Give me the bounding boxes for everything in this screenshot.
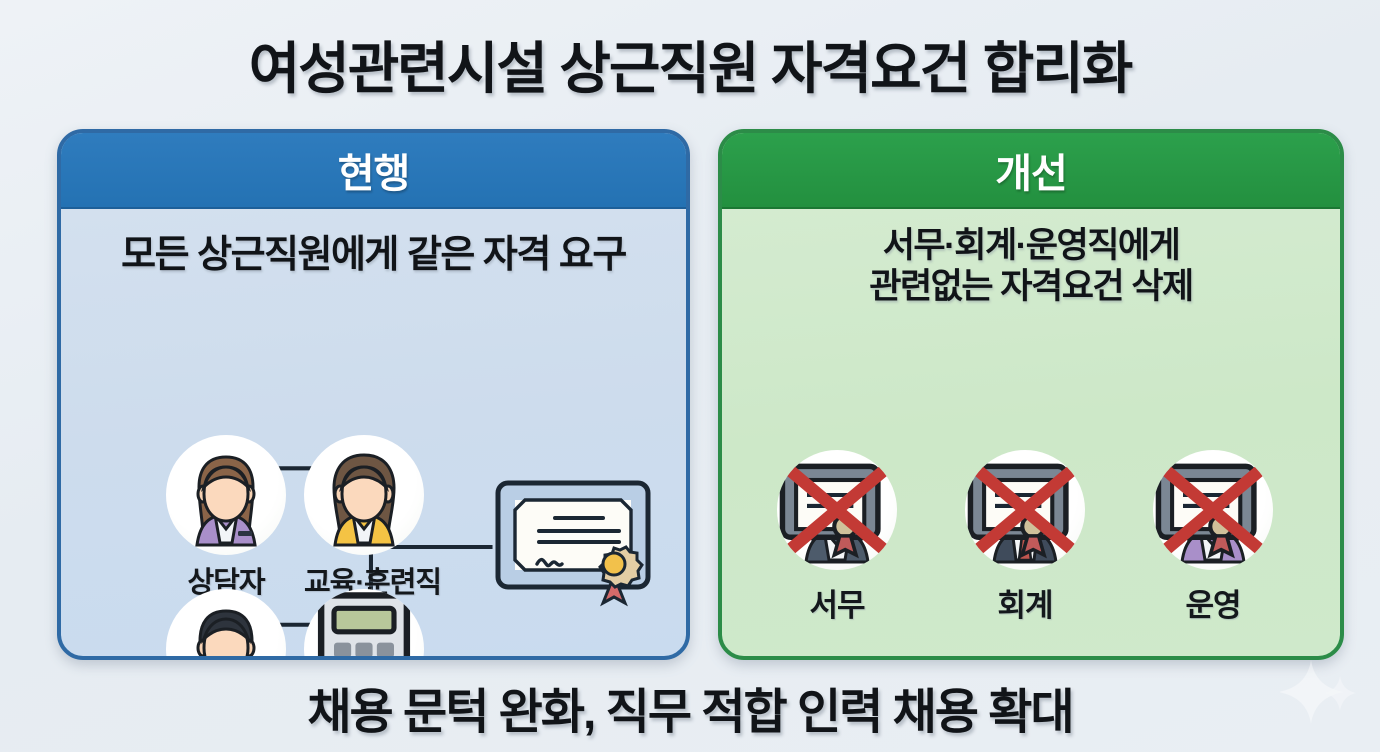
person-icon — [166, 435, 286, 555]
avatar — [166, 435, 286, 555]
certificate-icon — [493, 478, 661, 608]
figure-accounting: 회계 — [304, 589, 424, 660]
figure-counselor: 상담자 — [166, 435, 286, 601]
figure-label: 서무 — [777, 580, 897, 625]
panel-improved-body: 서무·회계·운영직에게 관련없는 자격요건 삭제 — [722, 207, 1340, 656]
figure-general-affairs: 서무 — [777, 450, 897, 625]
panel-improved-header: 개선 — [722, 133, 1340, 209]
person-icon — [304, 589, 424, 660]
person-icon — [304, 435, 424, 555]
infographic-canvas: 여성관련시설 상근직원 자격요건 합리화 현행 모든 상근직원에게 같은 자격 … — [0, 0, 1380, 752]
panel-current-body: 모든 상근직원에게 같은 자격 요구 — [61, 207, 686, 656]
figure-label: 운영 — [1153, 580, 1273, 625]
panel-current-header: 현행 — [61, 133, 686, 209]
certificate-crossed-out-icon — [1153, 450, 1273, 570]
figure-label: 회계 — [965, 580, 1085, 625]
subtitle-line-1: 서무·회계·운영직에게 — [883, 226, 1180, 265]
certificate-crossed-out-icon — [777, 450, 897, 570]
panel-improved: 개선 서무·회계·운영직에게 관련없는 자격요건 삭제 — [718, 129, 1344, 660]
sparkle-icon — [1280, 656, 1358, 728]
panel-current: 현행 모든 상근직원에게 같은 자격 요구 — [57, 129, 690, 660]
certificate-crossed-out-icon — [965, 450, 1085, 570]
person-icon — [166, 589, 286, 660]
avatar — [304, 589, 424, 660]
avatar — [1153, 450, 1273, 570]
bottom-caption: 채용 문턱 완화, 직무 적합 인력 채용 확대 — [0, 672, 1380, 742]
panel-improved-subtitle: 서무·회계·운영직에게 관련없는 자격요건 삭제 — [722, 225, 1340, 308]
figure-general-affairs: 서무 — [166, 589, 286, 660]
avatar — [777, 450, 897, 570]
avatar — [965, 450, 1085, 570]
avatar — [166, 589, 286, 660]
figure-accounting: 회계 — [965, 450, 1085, 625]
avatar — [304, 435, 424, 555]
figure-education-trainer: 교육·훈련직 — [304, 435, 424, 601]
figure-operations: 운영 — [1153, 450, 1273, 625]
page-title: 여성관련시설 상근직원 자격요건 합리화 — [0, 24, 1380, 105]
subtitle-line-2: 관련없는 자격요건 삭제 — [869, 267, 1192, 306]
